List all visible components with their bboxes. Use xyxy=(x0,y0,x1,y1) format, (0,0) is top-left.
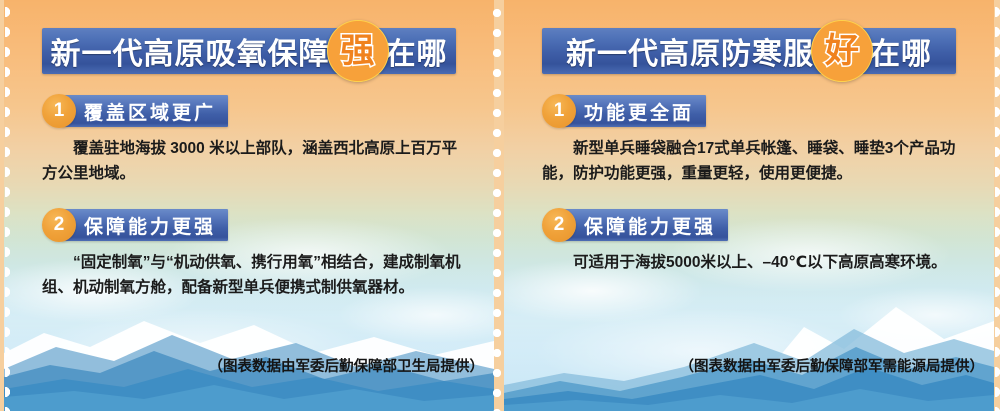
section-oxygen-1: 1 覆盖区域更广 覆盖驻地海拔 3000 米以上部队，涵盖西北高原上百万平方公里… xyxy=(42,95,466,186)
section-coldwear-2: 2 保障能力更强 可适用于海拔5000米以上、–40℃以下高原高寒环境。 xyxy=(542,209,966,275)
section-number-badge-coldwear-2: 2 xyxy=(542,208,576,242)
title-highlight-badge-coldwear: 好 xyxy=(811,20,873,82)
title-after-oxygen: 在哪 xyxy=(386,29,448,73)
section-heading-coldwear-2: 保障能力更强 xyxy=(562,209,728,241)
title-highlight-badge-oxygen: 强 xyxy=(327,20,389,82)
mountain-graphic-right xyxy=(504,281,994,411)
section-body-coldwear-1: 新型单兵睡袋融合17式单兵帐篷、睡袋、睡垫3个产品功能，防护功能更强，重量更轻，… xyxy=(542,136,966,186)
title-banner-coldwear: 新一代高原防寒服 在哪 好 xyxy=(542,28,956,74)
title-text-oxygen: 新一代高原吸氧保障 在哪 xyxy=(42,28,456,74)
attribution-coldwear: （图表数据由军委后勤保障部军需能源局提供） xyxy=(680,355,985,376)
title-after-coldwear: 在哪 xyxy=(870,29,932,73)
title-highlight-char-oxygen: 强 xyxy=(341,34,375,68)
section-coldwear-1: 1 功能更全面 新型单兵睡袋融合17式单兵帐篷、睡袋、睡垫3个产品功能，防护功能… xyxy=(542,95,966,186)
section-number-badge-coldwear-1: 1 xyxy=(542,94,576,128)
title-text-coldwear: 新一代高原防寒服 在哪 xyxy=(542,28,956,74)
title-banner-oxygen: 新一代高原吸氧保障 在哪 强 xyxy=(42,28,456,74)
title-highlight-char-coldwear: 好 xyxy=(825,34,859,68)
title-before-coldwear: 新一代高原防寒服 xyxy=(566,29,814,73)
section-body-coldwear-2: 可适用于海拔5000米以上、–40℃以下高原高寒环境。 xyxy=(542,250,966,275)
section-number-badge-oxygen-2: 2 xyxy=(42,208,76,242)
panel-oxygen: 新一代高原吸氧保障 在哪 强 1 覆盖区域更广 覆盖驻地海拔 3000 米以上部… xyxy=(4,0,494,411)
section-header-oxygen-1: 1 覆盖区域更广 xyxy=(42,95,466,127)
title-before-oxygen: 新一代高原吸氧保障 xyxy=(51,29,330,73)
mountain-graphic-left xyxy=(4,281,494,411)
section-body-oxygen-2: “固定制氧”与“机动供氧、携行用氧”相结合，建成制氧机组、机动制氧方舱，配备新型… xyxy=(42,250,466,300)
section-oxygen-2: 2 保障能力更强 “固定制氧”与“机动供氧、携行用氧”相结合，建成制氧机组、机动… xyxy=(42,209,466,300)
panel-coldwear: 新一代高原防寒服 在哪 好 1 功能更全面 新型单兵睡袋融合17式单兵帐篷、睡袋… xyxy=(504,0,994,411)
section-body-oxygen-1: 覆盖驻地海拔 3000 米以上部队，涵盖西北高原上百万平方公里地域。 xyxy=(42,136,466,186)
section-header-coldwear-1: 1 功能更全面 xyxy=(542,95,966,127)
section-header-coldwear-2: 2 保障能力更强 xyxy=(542,209,966,241)
attribution-oxygen: （图表数据由军委后勤保障部卫生局提供） xyxy=(209,355,485,376)
section-header-oxygen-2: 2 保障能力更强 xyxy=(42,209,466,241)
infographic-root: 新一代高原吸氧保障 在哪 强 1 覆盖区域更广 覆盖驻地海拔 3000 米以上部… xyxy=(0,0,1000,411)
section-heading-oxygen-1: 覆盖区域更广 xyxy=(62,95,228,127)
section-heading-oxygen-2: 保障能力更强 xyxy=(62,209,228,241)
section-heading-coldwear-1: 功能更全面 xyxy=(562,95,706,127)
section-number-badge-oxygen-1: 1 xyxy=(42,94,76,128)
